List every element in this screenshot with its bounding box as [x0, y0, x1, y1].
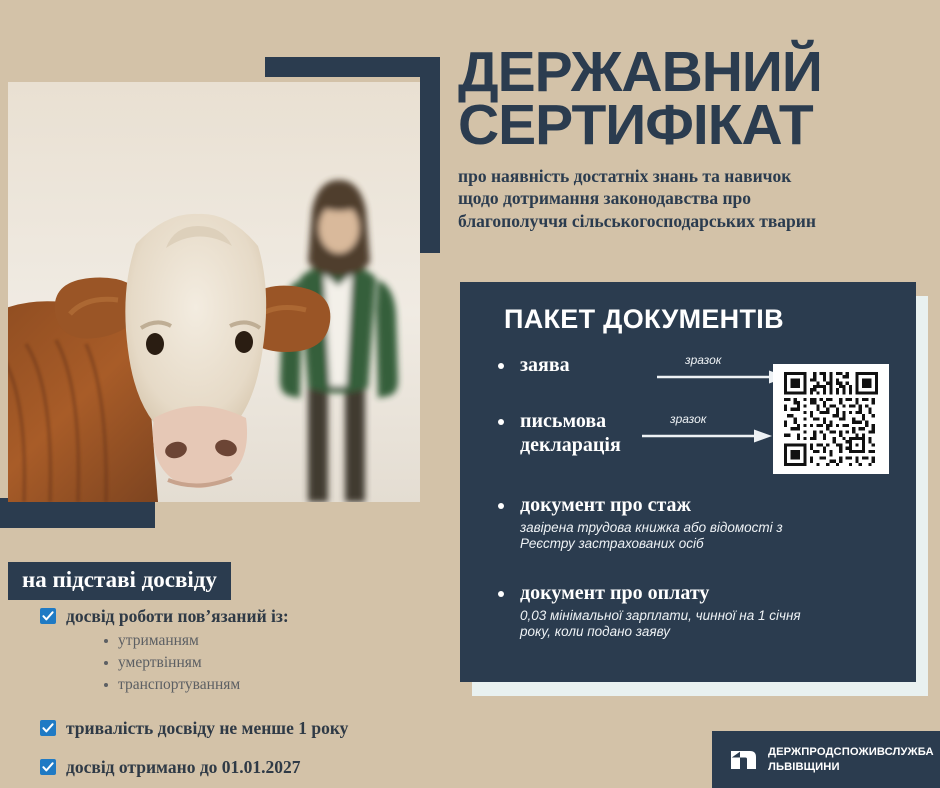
checklist-item-work-related[interactable]: досвід роботи пов’язаний із: утриманням … [40, 606, 460, 696]
check-icon [40, 759, 56, 775]
document-note: завірена трудова книжка або відомості з … [520, 520, 820, 553]
experience-heading: на підставі досвіду [8, 562, 231, 600]
poster-subtitle: про наявність достатніх знань та навичок… [458, 165, 928, 232]
qr-code[interactable] [773, 364, 889, 474]
derzhprodspozhyvsluzhba-logo-icon [728, 745, 758, 775]
experience-checklist: досвід роботи пов’язаний із: утриманням … [40, 606, 460, 782]
subtitle-line-1: про наявність достатніх знань та навичок [458, 165, 928, 187]
subtitle-line-2: щодо дотримання законодавства про [458, 187, 928, 209]
check-icon [40, 608, 56, 624]
document-label: документ про оплату [520, 582, 890, 606]
checklist-item-deadline[interactable]: досвід отримано до 01.01.2027 [40, 757, 460, 778]
documents-panel-title: ПАКЕТ ДОКУМЕНТІВ [504, 304, 784, 335]
checklist-item-duration[interactable]: тривалість досвіду не менше 1 року [40, 718, 460, 739]
bullet-icon [498, 591, 504, 597]
sub-item: транспортуванням [102, 674, 460, 696]
document-note: 0,03 мінімальної зарплати, чинної на 1 с… [520, 608, 820, 641]
subtitle-line-3: благополуччя сільськогосподарських твари… [458, 210, 928, 232]
bullet-icon [498, 503, 504, 509]
sample-arrow-declaration[interactable]: зразок [642, 414, 772, 448]
sample-label: зразок [670, 412, 706, 426]
poster-canvas: ДЕРЖАВНИЙ СЕРТИФІКАТ про наявність доста… [0, 0, 940, 788]
decor-frame-right [420, 57, 440, 253]
document-label: письмова декларація [520, 410, 650, 457]
decor-frame-bottom [0, 498, 155, 528]
logo-text: ДЕРЖПРОДСПОЖИВСЛУЖБА ЛЬВІВЩИНИ [768, 745, 934, 774]
organization-logo: ДЕРЖПРОДСПОЖИВСЛУЖБА ЛЬВІВЩИНИ [712, 731, 940, 788]
qr-code-image [781, 372, 881, 466]
checkbox-checked-icon[interactable] [40, 608, 56, 624]
documents-panel: ПАКЕТ ДОКУМЕНТІВ заява зразок письмова д… [460, 282, 916, 682]
bullet-icon [498, 363, 504, 369]
document-item-payment: документ про оплату 0,03 мінімальної зар… [490, 582, 890, 654]
arrow-right-icon [642, 429, 772, 443]
checkbox-checked-icon[interactable] [40, 720, 56, 736]
decor-frame-top [265, 57, 440, 77]
arrow-right-icon [657, 370, 787, 384]
logo-line-2: ЛЬВІВЩИНИ [768, 761, 840, 773]
sub-item: умертвінням [102, 652, 460, 674]
sample-label: зразок [685, 353, 721, 367]
poster-title: ДЕРЖАВНИЙ СЕРТИФІКАТ про наявність доста… [458, 46, 928, 232]
document-item-experience: документ про стаж завірена трудова книжк… [490, 494, 890, 570]
check-icon [40, 720, 56, 736]
sub-item: утриманням [102, 630, 460, 652]
checklist-label: досвід отримано до 01.01.2027 [66, 757, 301, 777]
logo-mark-icon [728, 745, 758, 775]
sample-arrow-application[interactable]: зразок [657, 355, 787, 389]
photo-illustration [8, 82, 420, 502]
bullet-icon [498, 419, 504, 425]
cow-and-farmer-photo [8, 82, 420, 502]
checkbox-checked-icon[interactable] [40, 759, 56, 775]
logo-line-1: ДЕРЖПРОДСПОЖИВСЛУЖБА [768, 746, 934, 758]
experience-sub-list: утриманням умертвінням транспортуванням [102, 630, 460, 696]
title-line-2: СЕРТИФІКАТ [458, 99, 928, 152]
checklist-label: досвід роботи пов’язаний із: [66, 606, 289, 626]
checklist-label: тривалість досвіду не менше 1 року [66, 718, 348, 738]
document-label: документ про стаж [520, 494, 890, 518]
title-line-1: ДЕРЖАВНИЙ [458, 46, 928, 99]
